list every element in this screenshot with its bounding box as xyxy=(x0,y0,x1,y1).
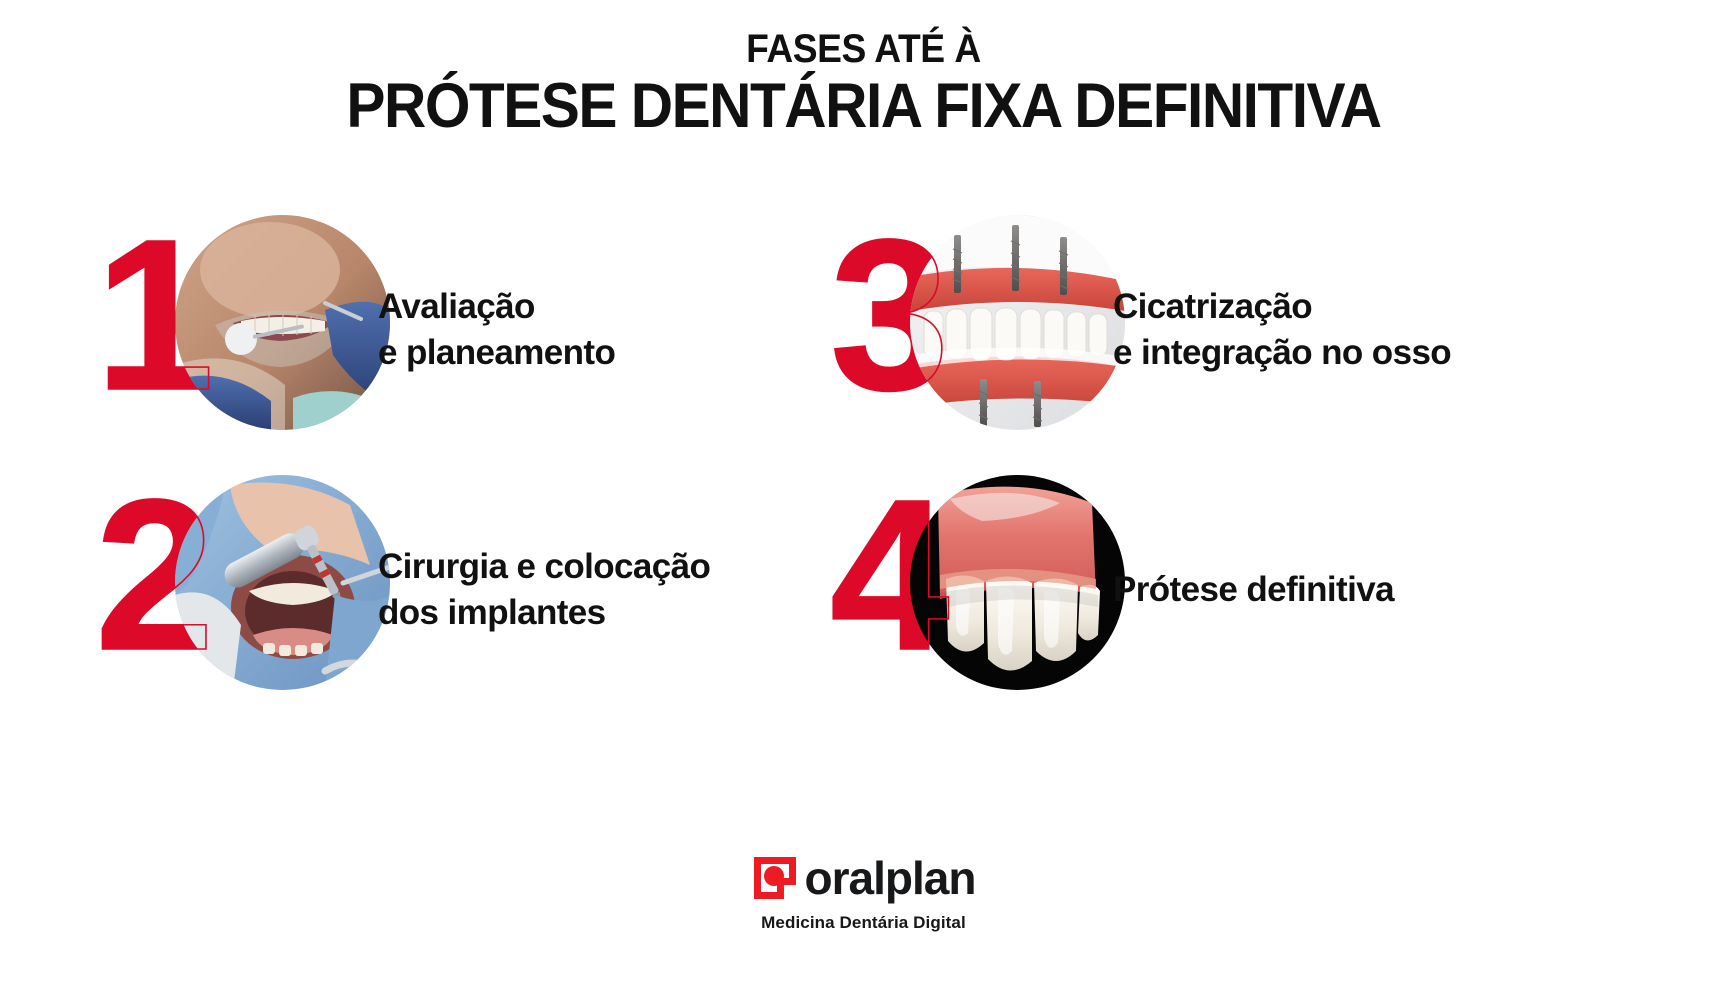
step-label-3: Cicatrização e integração no osso xyxy=(1113,284,1451,376)
page-title: FASES ATÉ À PRÓTESE DENTÁRIA FIXA DEFINI… xyxy=(0,28,1727,140)
logo-row: oralplan xyxy=(752,855,976,901)
step-photo-4 xyxy=(910,475,1125,690)
brand-logo: oralplan Medicina Dentária Digital xyxy=(0,855,1727,933)
title-line-1: FASES ATÉ À xyxy=(60,28,1666,70)
steps-grid: 1 xyxy=(0,205,1727,705)
logo-tagline: Medicina Dentária Digital xyxy=(0,913,1727,933)
step-photo-1 xyxy=(175,215,390,430)
oralplan-logo-mark-icon xyxy=(752,855,798,901)
step-label-1: Avaliação e planeamento xyxy=(378,284,615,376)
step-item-3: 3 xyxy=(830,205,1590,455)
step-item-4: 4 xyxy=(830,465,1590,715)
step-item-1: 1 xyxy=(95,205,855,455)
step-photo-3 xyxy=(910,215,1125,430)
step-label-2: Cirurgia e colocação dos implantes xyxy=(378,544,710,636)
logo-wordmark: oralplan xyxy=(805,855,976,901)
title-line-2: PRÓTESE DENTÁRIA FIXA DEFINITIVA xyxy=(60,72,1666,140)
step-photo-2 xyxy=(175,475,390,690)
step-label-4: Prótese definitiva xyxy=(1113,567,1394,613)
infographic-poster: FASES ATÉ À PRÓTESE DENTÁRIA FIXA DEFINI… xyxy=(0,0,1727,988)
step-item-2: 2 xyxy=(95,465,855,715)
